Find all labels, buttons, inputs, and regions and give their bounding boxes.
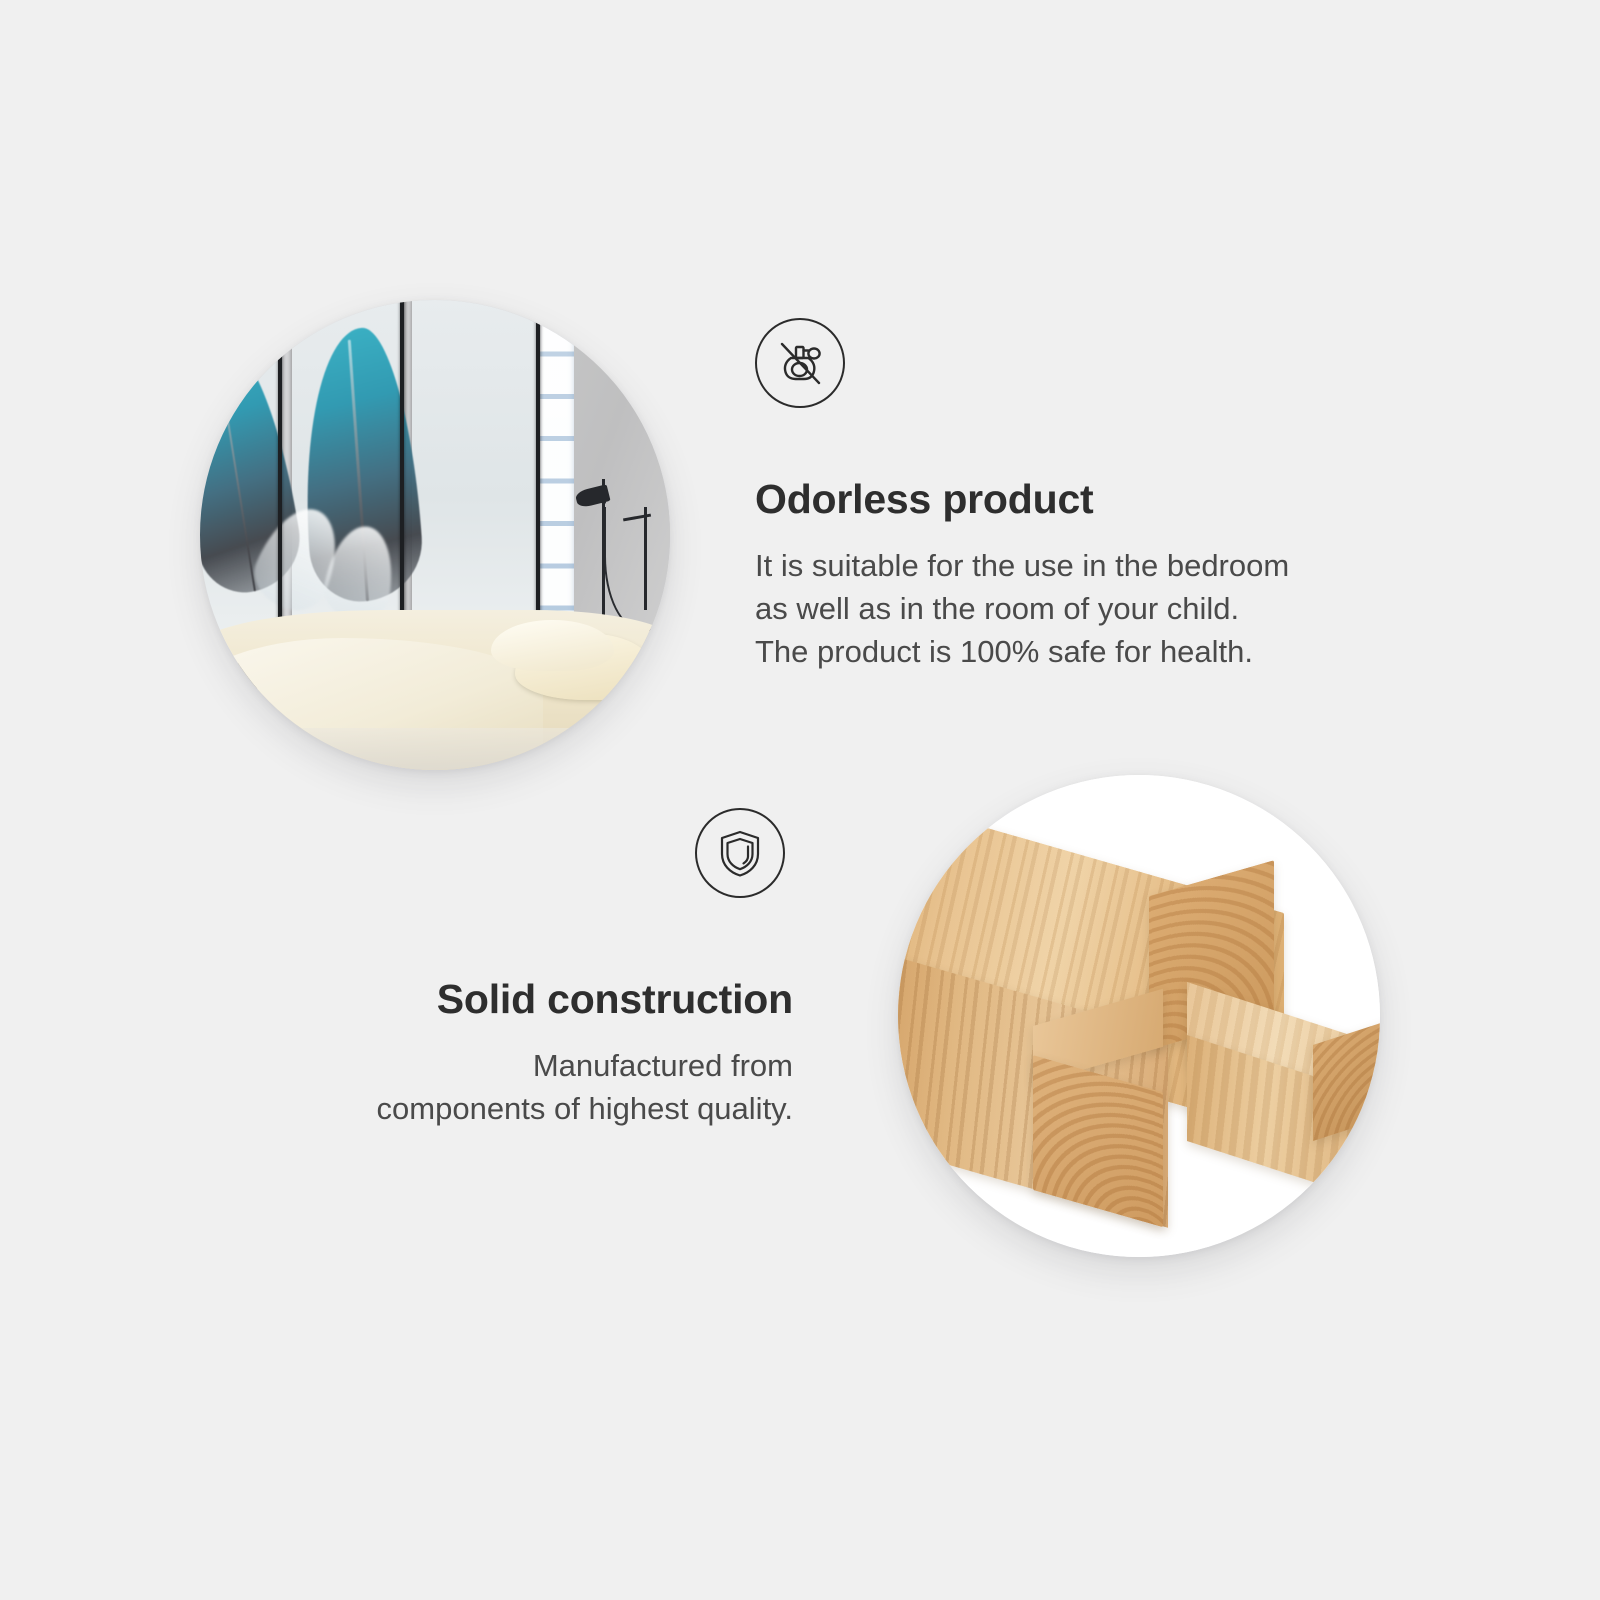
bedroom-floor [200,728,670,770]
shield-icon [695,808,785,898]
wooden-blocks-photo [898,775,1380,1257]
no-perfume-icon [755,318,845,408]
feature-body-solid-construction: Manufactured from components of highest … [280,1045,793,1131]
product-feature-page: Odorless product It is suitable for the … [0,0,1600,1600]
feature-solid-construction: Solid construction Manufactured from com… [280,808,793,1131]
feature-body-odorless: It is suitable for the use in the bedroo… [755,545,1289,673]
bedroom-scene [200,300,670,770]
glass-block-window [536,309,574,647]
canvas-gap-1 [278,300,282,667]
feature-title-odorless: Odorless product [755,476,1289,523]
bedroom-with-feather-canvas-photo [200,300,670,770]
feature-odorless-product: Odorless product It is suitable for the … [755,318,1289,673]
shield-icon-wrapper [280,808,793,976]
feature-title-solid-construction: Solid construction [280,976,793,1023]
second-lamp-pole [644,507,647,610]
wood-blocks-scene [898,775,1380,1257]
